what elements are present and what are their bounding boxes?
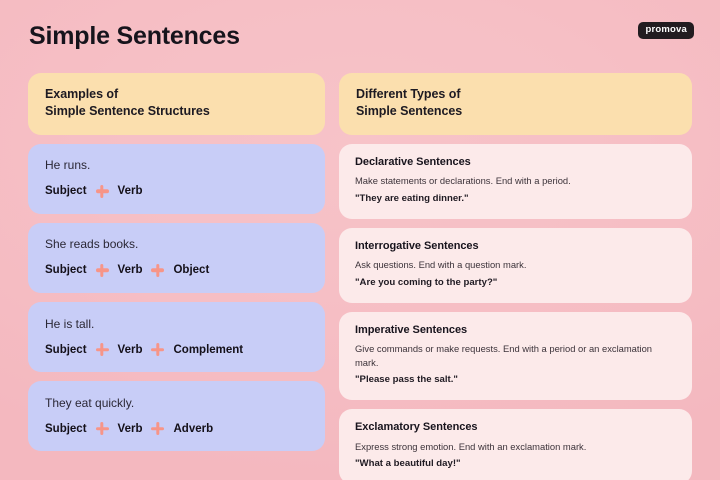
left-header-line-2: Simple Sentence Structures: [45, 103, 308, 120]
left-header-line-1: Examples of: [45, 86, 308, 103]
structure-part: Subject: [45, 185, 87, 197]
sentence-type-title: Imperative Sentences: [355, 324, 676, 338]
plus-icon: [151, 343, 164, 356]
promova-logo: promova: [638, 22, 694, 39]
structure-card: They eat quickly. Subject Verb Adverb: [28, 381, 325, 451]
structure-part: Verb: [118, 423, 143, 435]
right-column-header: Different Types of Simple Sentences: [339, 73, 692, 135]
structure-card: He runs. Subject Verb: [28, 144, 325, 214]
right-header-line-2: Simple Sentences: [356, 103, 675, 120]
structure-formula: Subject Verb Complement: [45, 343, 308, 356]
right-header-line-1: Different Types of: [356, 86, 675, 103]
sentence-type-card: Interrogative Sentences Ask questions. E…: [339, 228, 692, 303]
plus-icon: [96, 264, 109, 277]
columns-container: Examples of Simple Sentence Structures H…: [28, 73, 692, 451]
structure-part: Subject: [45, 344, 87, 356]
sentence-type-description: Give commands or make requests. End with…: [355, 342, 655, 369]
sentence-type-title: Exclamatory Sentences: [355, 421, 676, 435]
left-column-header: Examples of Simple Sentence Structures: [28, 73, 325, 135]
plus-icon: [151, 264, 164, 277]
structure-example-sentence: She reads books.: [45, 237, 308, 251]
sentence-type-card: Imperative Sentences Give commands or ma…: [339, 312, 692, 400]
structure-formula: Subject Verb: [45, 185, 308, 198]
structure-part: Subject: [45, 264, 87, 276]
left-column: Examples of Simple Sentence Structures H…: [28, 73, 325, 451]
structure-part: Verb: [118, 185, 143, 197]
structure-part: Verb: [118, 344, 143, 356]
structure-card: He is tall. Subject Verb Complement: [28, 302, 325, 372]
structure-example-sentence: He runs.: [45, 158, 308, 172]
page-title: Simple Sentences: [29, 22, 240, 51]
plus-icon: [151, 422, 164, 435]
structure-part: Verb: [118, 264, 143, 276]
structure-formula: Subject Verb Adverb: [45, 422, 308, 435]
structure-part: Object: [173, 264, 209, 276]
structure-example-sentence: They eat quickly.: [45, 396, 308, 410]
structure-card: She reads books. Subject Verb Object: [28, 223, 325, 293]
plus-icon: [96, 185, 109, 198]
plus-icon: [96, 343, 109, 356]
sentence-type-example: "Please pass the salt.": [355, 374, 676, 387]
structure-part: Complement: [173, 344, 243, 356]
plus-icon: [96, 422, 109, 435]
sentence-type-title: Interrogative Sentences: [355, 240, 676, 254]
sentence-type-card: Declarative Sentences Make statements or…: [339, 144, 692, 219]
sentence-type-description: Express strong emotion. End with an excl…: [355, 440, 655, 453]
structure-part: Subject: [45, 423, 87, 435]
sentence-type-title: Declarative Sentences: [355, 156, 676, 170]
sentence-type-description: Ask questions. End with a question mark.: [355, 258, 655, 271]
sentence-type-example: "They are eating dinner.": [355, 193, 676, 206]
structure-part: Adverb: [173, 423, 213, 435]
right-column: Different Types of Simple Sentences Decl…: [339, 73, 692, 451]
sentence-type-example: "Are you coming to the party?": [355, 277, 676, 290]
sentence-type-example: "What a beautiful day!": [355, 458, 676, 471]
structure-example-sentence: He is tall.: [45, 317, 308, 331]
sentence-type-description: Make statements or declarations. End wit…: [355, 174, 655, 187]
poster-header: Simple Sentences promova: [0, 0, 720, 68]
structure-formula: Subject Verb Object: [45, 264, 308, 277]
infographic-poster: Simple Sentences promova Examples of Sim…: [0, 0, 720, 480]
sentence-type-card: Exclamatory Sentences Express strong emo…: [339, 409, 692, 480]
